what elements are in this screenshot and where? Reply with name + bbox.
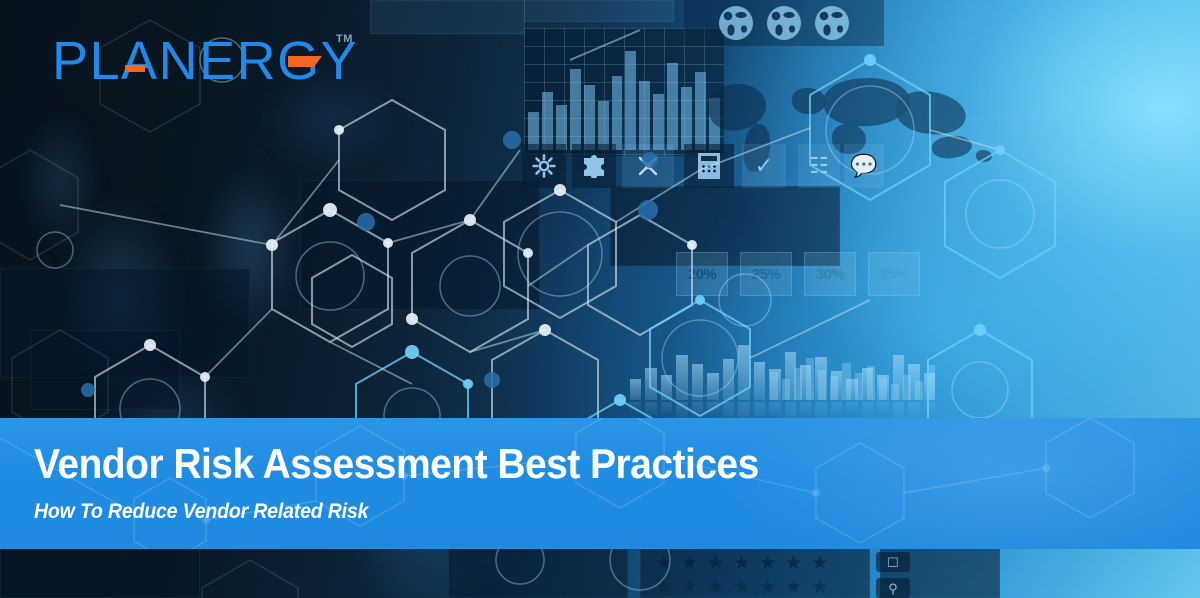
planergy-logo[interactable]: PLANERGY	[52, 34, 382, 90]
planergy-logo-mark: PLANERGY	[52, 34, 382, 90]
title-banner: Vendor Risk Assessment Best Practices Ho…	[0, 418, 1200, 549]
trademark-symbol: TM	[336, 34, 353, 45]
logo-accent-a	[125, 65, 145, 72]
hero-banner: ✓ ☷ 💬 20% 25% 30% 35% ★★★★★★★ ★★★★★★★ ☐ …	[0, 0, 1200, 598]
page-title: Vendor Risk Assessment Best Practices	[34, 442, 759, 486]
page-subtitle: How To Reduce Vendor Related Risk	[34, 500, 368, 523]
